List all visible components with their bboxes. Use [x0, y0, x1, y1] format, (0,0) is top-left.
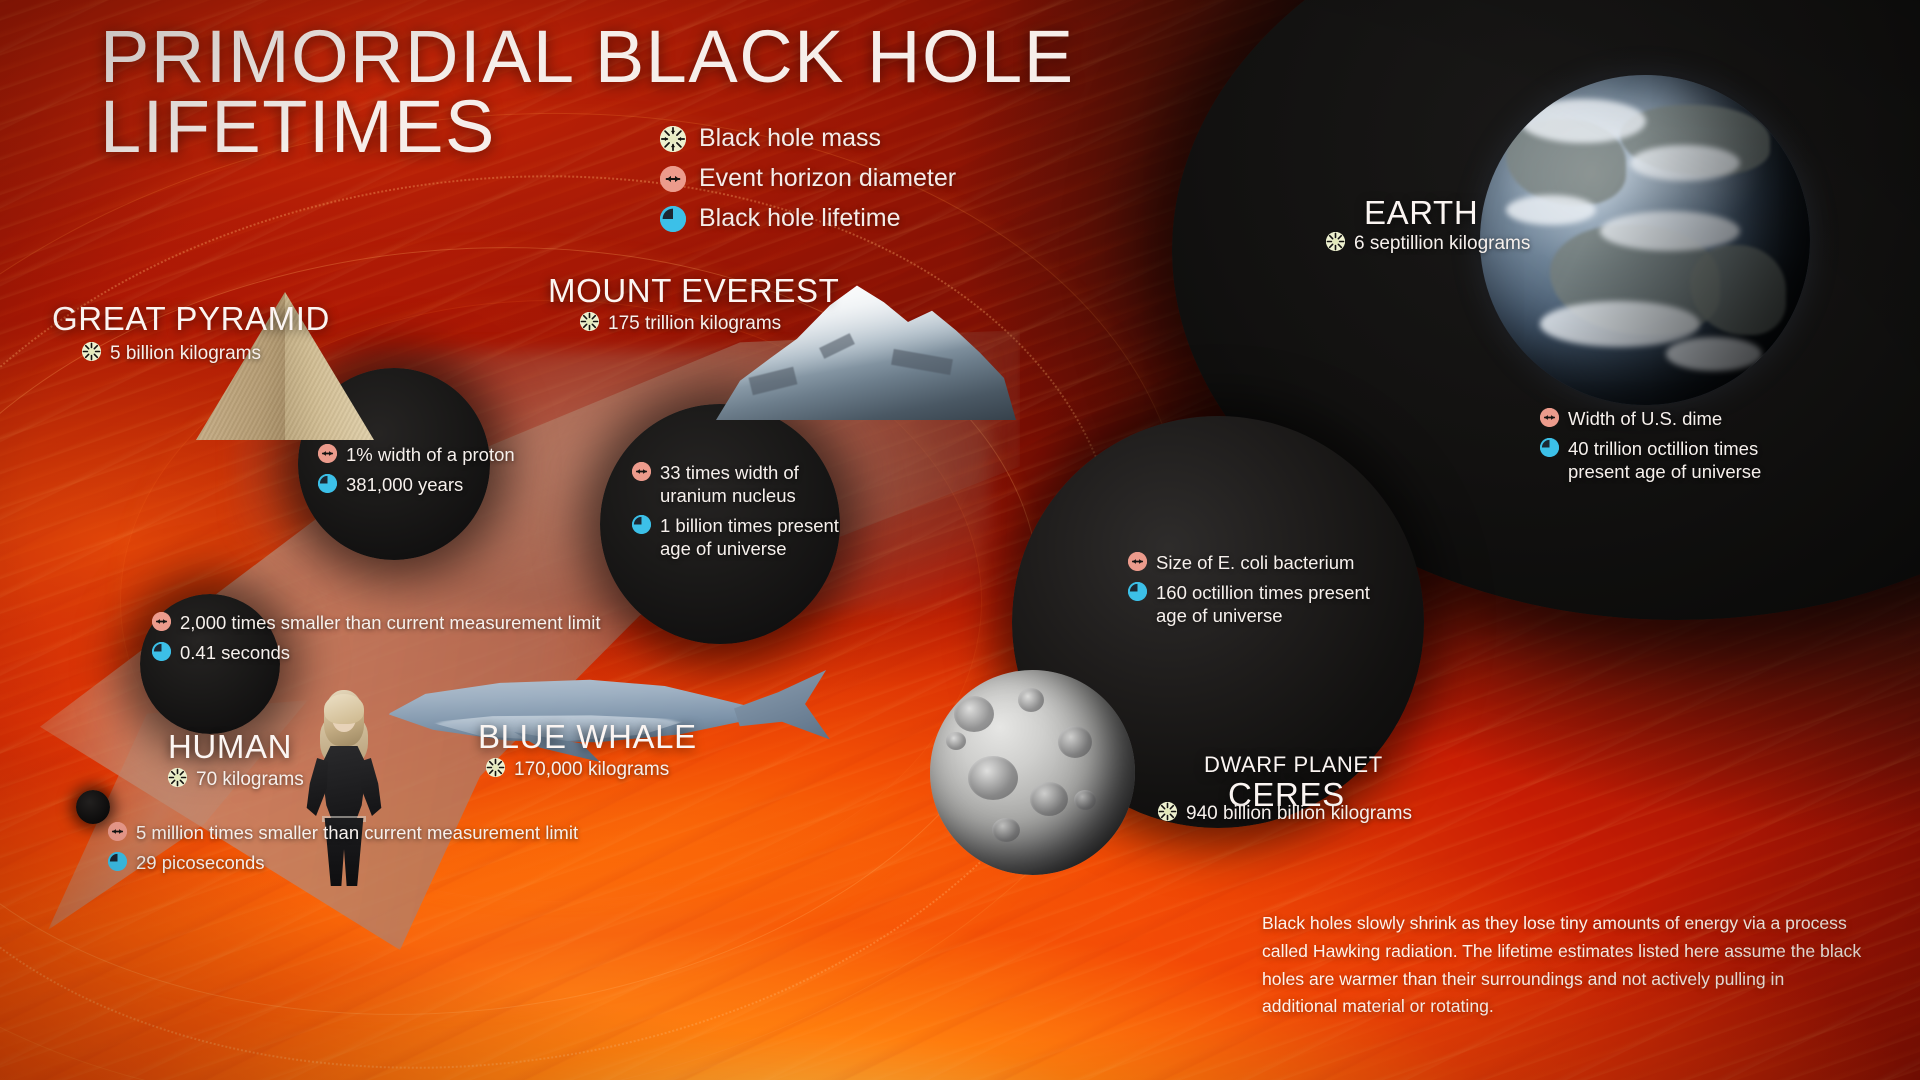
- background-vignette: [0, 0, 1920, 1080]
- infographic-canvas: PRIMORDIAL BLACK HOLE LIFETIMES: [0, 0, 1920, 1080]
